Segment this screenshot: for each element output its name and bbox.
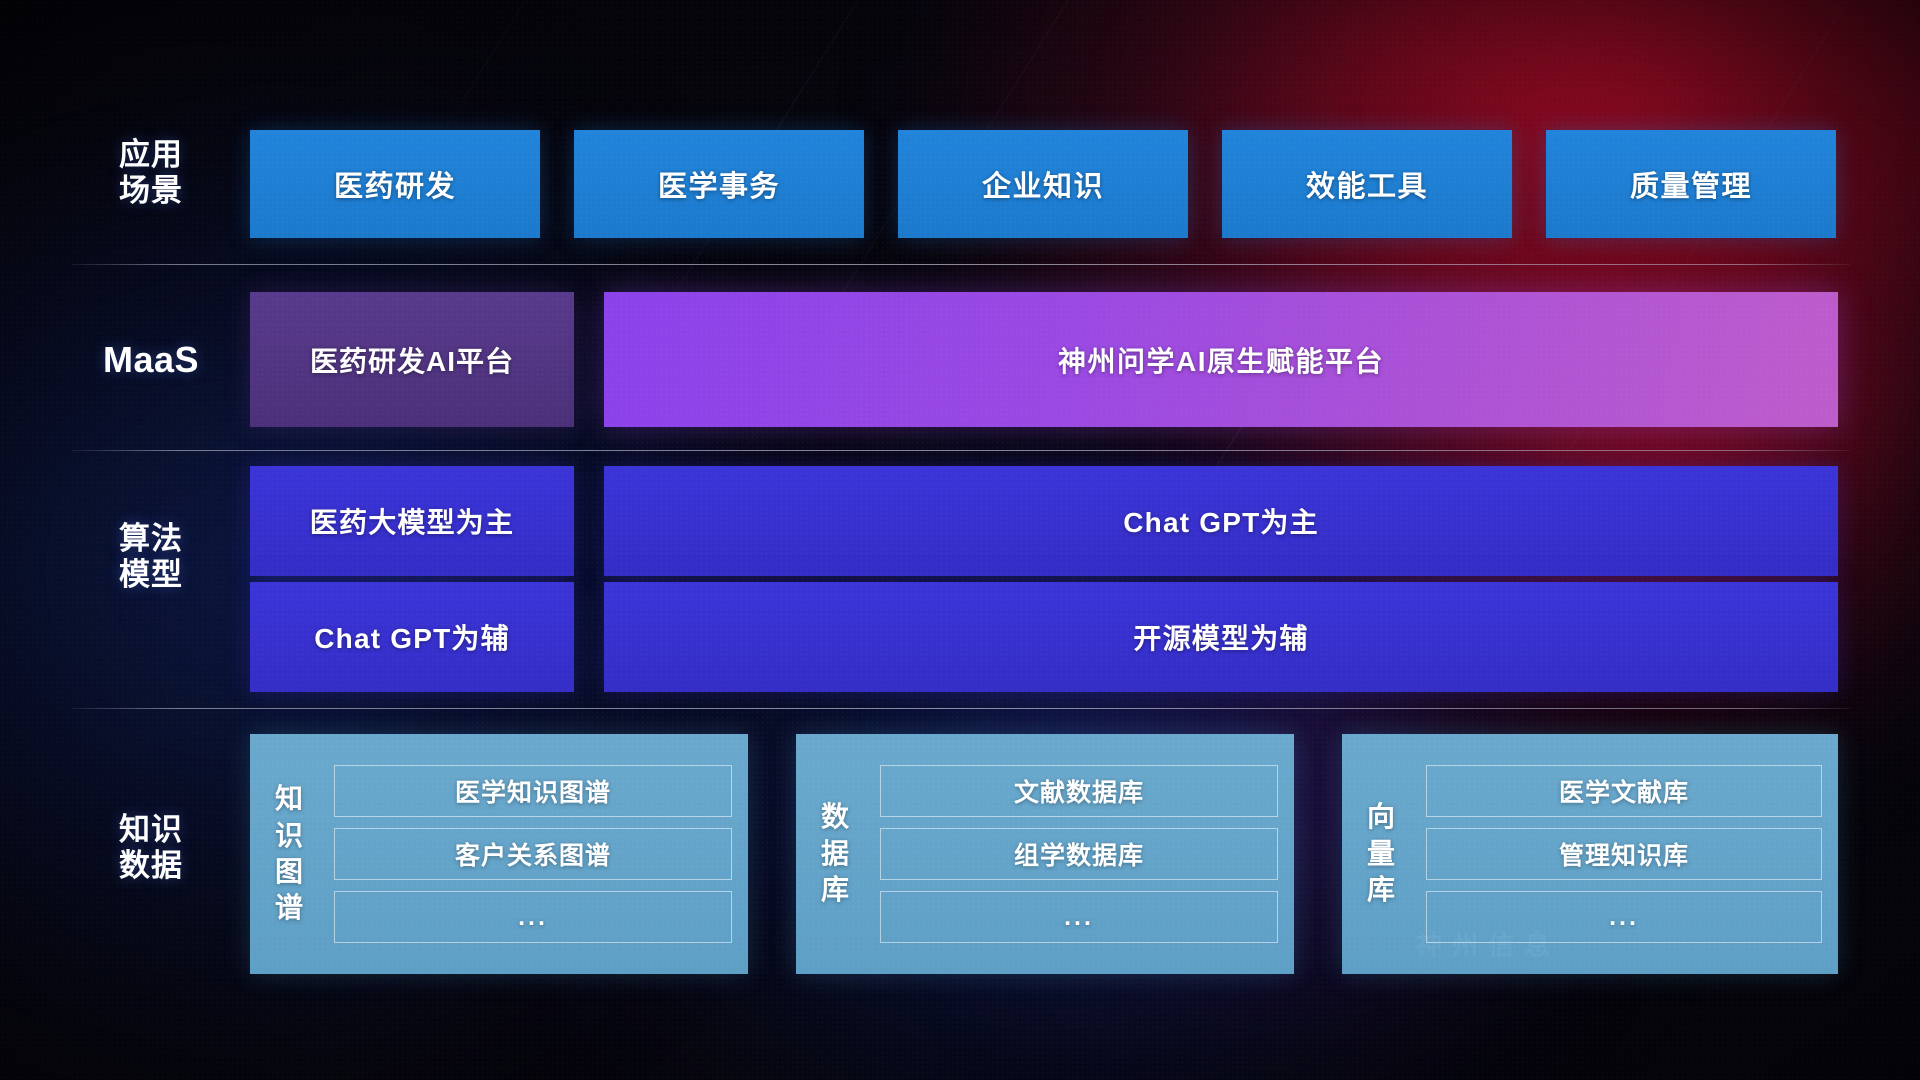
row-label-knowledge-line1: 知识 [86, 812, 216, 848]
knowledge-group-graph-title-char-3: 谱 [275, 890, 303, 926]
knowledge-item-literature-db[interactable]: 文献数据库 [880, 765, 1278, 817]
row-label-algorithm-line2: 模型 [86, 557, 216, 593]
maas-box-drug-ai-platform[interactable]: 医药研发AI平台 [250, 292, 574, 427]
knowledge-item-database-more[interactable]: ... [880, 891, 1278, 943]
knowledge-group-database-title-char-0: 数 [821, 799, 849, 835]
knowledge-item-management-knowledge-lib[interactable]: 管理知识库 [1426, 828, 1822, 880]
knowledge-group-vector[interactable]: 向 量 库 医学文献库 管理知识库 ... [1342, 734, 1838, 974]
row-label-application: 应用 场景 [86, 137, 216, 210]
knowledge-item-omics-db[interactable]: 组学数据库 [880, 828, 1278, 880]
app-box-enterprise-knowledge[interactable]: 企业知识 [898, 130, 1188, 238]
knowledge-group-database[interactable]: 数 据 库 文献数据库 组学数据库 ... [796, 734, 1294, 974]
divider-algorithm-knowledge [72, 708, 1850, 709]
app-box-drug-rd[interactable]: 医药研发 [250, 130, 540, 238]
knowledge-group-vector-title: 向 量 库 [1342, 734, 1420, 974]
app-box-quality-management[interactable]: 质量管理 [1546, 130, 1836, 238]
knowledge-group-database-items: 文献数据库 组学数据库 ... [874, 734, 1294, 974]
row-label-algorithm: 算法 模型 [86, 521, 216, 594]
knowledge-group-graph-title-char-0: 知 [275, 781, 303, 817]
row-label-maas: MaaS [86, 339, 216, 381]
architecture-diagram: 应用 场景 医药研发 医学事务 企业知识 效能工具 质量管理 MaaS 医药研发… [0, 0, 1920, 1080]
knowledge-item-medical-graph[interactable]: 医学知识图谱 [334, 765, 732, 817]
knowledge-item-graph-more[interactable]: ... [334, 891, 732, 943]
row-label-application-line2: 场景 [86, 173, 216, 209]
knowledge-item-medical-literature-lib[interactable]: 医学文献库 [1426, 765, 1822, 817]
knowledge-group-database-title: 数 据 库 [796, 734, 874, 974]
knowledge-group-database-title-char-1: 据 [821, 836, 849, 872]
maas-box-shenzhou-platform[interactable]: 神州问学AI原生赋能平台 [604, 292, 1838, 427]
knowledge-item-customer-graph[interactable]: 客户关系图谱 [334, 828, 732, 880]
knowledge-group-database-title-char-2: 库 [821, 872, 849, 908]
algo-box-opensource-secondary[interactable]: 开源模型为辅 [604, 582, 1838, 692]
knowledge-item-vector-more[interactable]: ... [1426, 891, 1822, 943]
algo-box-pharma-llm-primary[interactable]: 医药大模型为主 [250, 466, 574, 576]
divider-maas-algorithm [72, 450, 1850, 451]
app-box-efficiency-tools[interactable]: 效能工具 [1222, 130, 1512, 238]
algo-box-chatgpt-secondary[interactable]: Chat GPT为辅 [250, 582, 574, 692]
knowledge-group-vector-title-char-2: 库 [1367, 872, 1395, 908]
row-label-algorithm-line1: 算法 [86, 521, 216, 557]
app-box-medical-affairs[interactable]: 医学事务 [574, 130, 864, 238]
knowledge-group-graph-items: 医学知识图谱 客户关系图谱 ... [328, 734, 748, 974]
row-label-application-line1: 应用 [86, 137, 216, 173]
knowledge-group-graph-title: 知 识 图 谱 [250, 734, 328, 974]
knowledge-group-graph-title-char-2: 图 [275, 854, 303, 890]
knowledge-group-vector-items: 医学文献库 管理知识库 ... [1420, 734, 1838, 974]
knowledge-group-graph-title-char-1: 识 [275, 818, 303, 854]
knowledge-group-vector-title-char-0: 向 [1367, 799, 1395, 835]
row-label-knowledge: 知识 数据 [86, 812, 216, 885]
algo-box-chatgpt-primary[interactable]: Chat GPT为主 [604, 466, 1838, 576]
row-label-knowledge-line2: 数据 [86, 848, 216, 884]
divider-application-maas [72, 264, 1850, 265]
knowledge-group-graph[interactable]: 知 识 图 谱 医学知识图谱 客户关系图谱 ... [250, 734, 748, 974]
knowledge-group-vector-title-char-1: 量 [1367, 836, 1395, 872]
